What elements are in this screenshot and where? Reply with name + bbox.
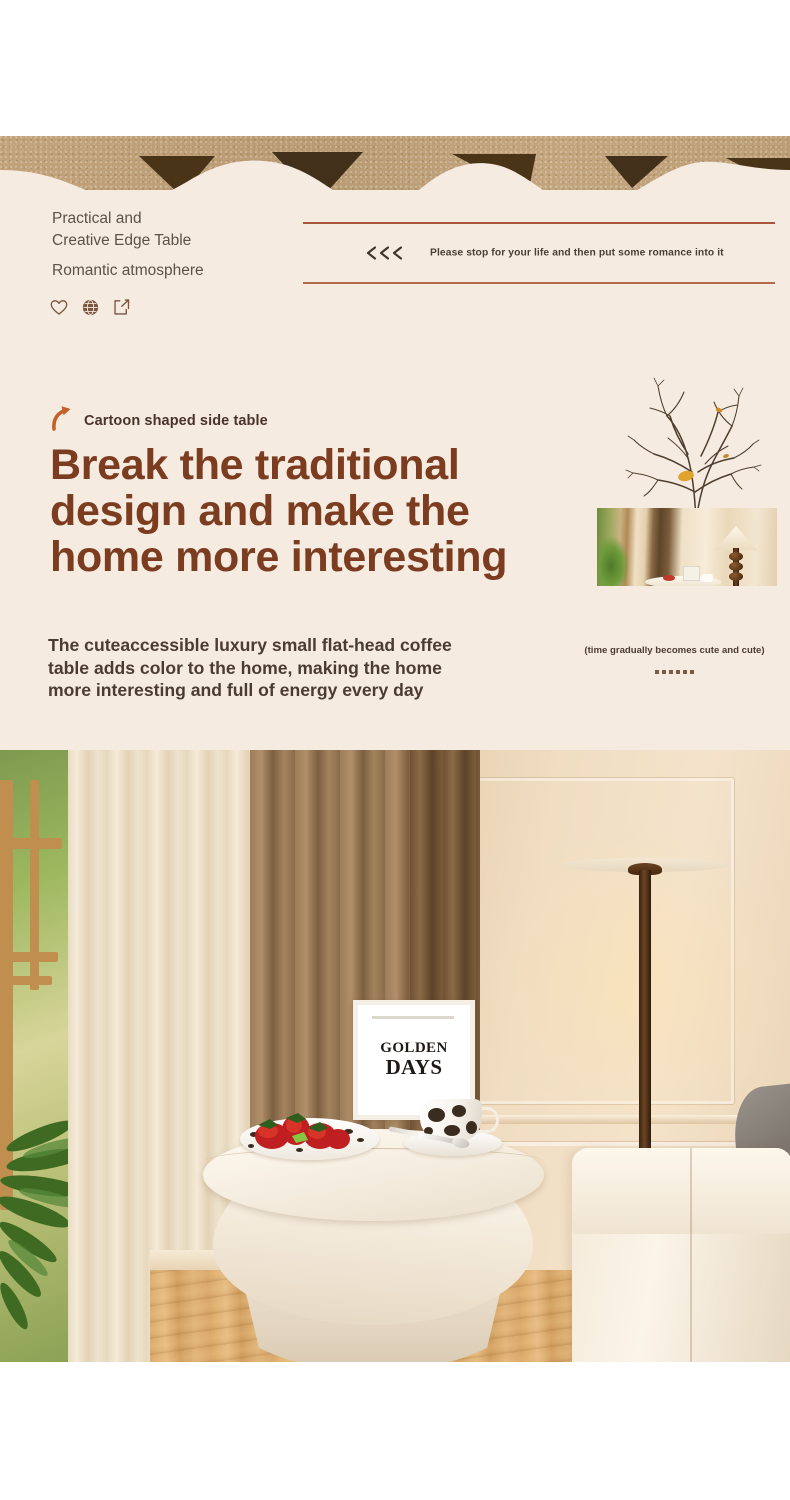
dot [683, 670, 687, 674]
quote-rule-bottom [303, 282, 775, 284]
sofa-arm [572, 1148, 790, 1234]
thumb-cup [701, 574, 713, 582]
feature-eyebrow-label: Cartoon shaped side table [84, 413, 268, 429]
dot [662, 670, 666, 674]
quote-rule-top [303, 222, 775, 224]
quote-strip: Please stop for your life and then put s… [303, 222, 775, 284]
headline-line-1: Break the traditional [50, 442, 580, 488]
headline-line-2: design and make the [50, 488, 580, 534]
lamp-bead [620, 1074, 670, 1124]
header-block: Practical and Creative Edge Table Romant… [0, 200, 790, 340]
globe-icon[interactable] [82, 299, 99, 316]
feature-description: The cuteaccessible luxury small flat-hea… [48, 634, 558, 702]
feature-eyebrow: Cartoon shaped side table [48, 403, 268, 438]
kicker-text: Practical and Creative Edge Table [52, 208, 312, 252]
side-note-dots [572, 670, 777, 674]
lamp-bead [620, 982, 670, 1032]
lamp-bead [620, 890, 670, 940]
chevron-left-triple-icon [362, 245, 410, 262]
thumb-bead [729, 562, 743, 571]
headline-line-3: home more interesting [50, 534, 580, 580]
thumb-frame [683, 566, 700, 581]
branch-illustration [600, 372, 785, 522]
quote-text: Please stop for your life and then put s… [430, 248, 724, 259]
thumb-bead [729, 572, 743, 581]
thumb-strawberries [663, 575, 675, 581]
heart-icon[interactable] [50, 299, 68, 316]
action-icon-row [50, 298, 130, 316]
frame-text-line-1: GOLDEN [380, 1041, 447, 1056]
share-icon[interactable] [113, 298, 130, 316]
dot [690, 670, 694, 674]
strawberries [248, 1106, 356, 1154]
thumb-plant [599, 536, 629, 586]
lamp-bead [620, 936, 670, 986]
description-line-1: The cuteaccessible luxury small flat-hea… [48, 634, 558, 657]
frame-text-line-2: DAYS [386, 1056, 443, 1078]
page-title: Break the traditional design and make th… [50, 442, 580, 580]
product-detail-page: Practical and Creative Edge Table Romant… [0, 0, 790, 1500]
dot [669, 670, 673, 674]
living-room-thumbnail[interactable] [597, 508, 777, 586]
description-line-3: more interesting and full of energy ever… [48, 679, 558, 702]
kicker-line-1: Practical and [52, 210, 142, 227]
description-line-2: table adds color to the home, making the… [48, 657, 558, 680]
lamp-bead [620, 1028, 670, 1078]
side-note: (time gradually becomes cute and cute) [572, 645, 777, 656]
sofa-seam [690, 1148, 692, 1362]
branch-art-svg [600, 372, 785, 522]
thumb-bead [729, 552, 743, 561]
hero-product-photo[interactable]: GOLDEN DAYS [0, 750, 790, 1362]
kicker-line-2: Creative Edge Table [52, 232, 191, 249]
dot [655, 670, 659, 674]
frame-slot [372, 1016, 454, 1019]
curved-arrow-icon [48, 403, 78, 438]
dot [676, 670, 680, 674]
header-subtitle: Romantic atmosphere [52, 262, 204, 280]
